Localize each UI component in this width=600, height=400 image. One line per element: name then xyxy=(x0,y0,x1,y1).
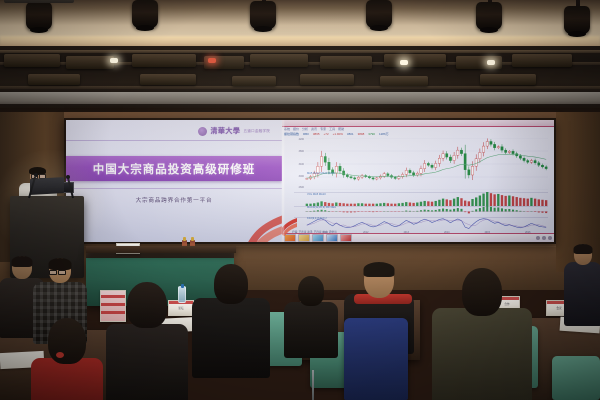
menu-item[interactable]: 工具 xyxy=(329,127,335,131)
audience-torso xyxy=(284,302,338,358)
ceiling-spotlight-icon xyxy=(366,0,392,28)
hair-tie-icon xyxy=(56,352,64,358)
chair-leg xyxy=(312,370,314,400)
quote-change: +72 xyxy=(324,132,329,136)
browser-icon[interactable] xyxy=(312,234,324,242)
clock-icon[interactable] xyxy=(548,236,552,240)
conference-hall-photo: 清華大學 五道口金融学院 中国大宗商品投资高级研修班 大宗商品跨界合作第一平台 xyxy=(0,0,600,400)
macd-legend: MACD(12,26,9) DIF DEA xyxy=(307,206,336,209)
truss-fixture xyxy=(250,54,308,67)
projector-blend-seam xyxy=(281,120,285,242)
volume-panel[interactable]: VOL MA5 MA10 xyxy=(294,192,548,206)
truss-fixture xyxy=(480,74,536,85)
truss-fixture xyxy=(384,54,446,67)
audience-member xyxy=(286,276,336,354)
audience-member xyxy=(34,318,100,400)
macd-panel[interactable]: MACD(12,26,9) DIF DEA xyxy=(294,206,548,217)
truss-downlight-icon xyxy=(487,60,495,65)
quote-low: 3790 xyxy=(368,132,375,136)
price-tick: 2600 xyxy=(299,186,304,189)
quote-change-pct: +1.90% xyxy=(333,132,343,136)
truss-indicator-icon xyxy=(208,58,216,63)
macd-histogram-chart xyxy=(305,206,548,217)
tsinghua-logo: 清華大學 五道口金融学院 xyxy=(198,126,270,136)
audience-hair xyxy=(12,256,33,267)
chair xyxy=(552,356,600,400)
truss-fixture xyxy=(380,76,428,86)
quote-last: 3865 xyxy=(313,132,320,136)
truss-fixture xyxy=(300,74,354,85)
kdj-oscillator-chart xyxy=(305,217,548,231)
red-ribbon-icon xyxy=(242,208,282,242)
glasses-icon xyxy=(49,270,65,273)
folder-icon[interactable] xyxy=(298,234,310,242)
ceiling-spotlight-icon xyxy=(564,6,590,34)
truss-fixture xyxy=(132,54,196,67)
menu-item[interactable]: 专家 xyxy=(320,127,326,131)
price-tick: 4200 xyxy=(299,138,304,141)
kdj-legend: KDJ(9,3,3) K D J xyxy=(307,217,326,220)
audience-member xyxy=(196,264,266,374)
network-icon[interactable] xyxy=(536,236,540,240)
truss-rail xyxy=(0,86,600,89)
projection-screen-frame: 清華大學 五道口金融学院 中国大宗商品投资高级研修班 大宗商品跨界合作第一平台 xyxy=(64,118,556,244)
kline-ma-legend: MA5 MA10 MA20 MA60 xyxy=(307,172,335,175)
truss-fixture xyxy=(512,54,572,67)
slide-divider-bottom xyxy=(66,188,282,189)
truss-fixture xyxy=(232,76,276,86)
ceiling-spotlight-icon xyxy=(26,2,52,30)
ceiling-spotlight-icon xyxy=(476,2,502,30)
quote-code: RB0 xyxy=(303,132,309,136)
slide-divider-top xyxy=(66,140,282,141)
truss-fixture xyxy=(66,56,114,69)
slide-subtitle: 大宗商品跨界合作第一平台 xyxy=(66,196,282,204)
trading-terminal-window[interactable]: 系统 报价 分析 资讯 专家 工具 帮助 螺纹钢指数 RB0 3865 +72 … xyxy=(282,120,554,242)
chart-icon[interactable] xyxy=(326,234,338,242)
audience-head xyxy=(214,264,248,304)
truss-fixture xyxy=(456,56,502,69)
quote-symbol: 螺纹钢指数 xyxy=(284,132,299,136)
price-tick: 3000 xyxy=(299,175,304,178)
tsinghua-seal-icon xyxy=(198,127,207,136)
volume-bar-chart xyxy=(305,192,548,206)
audience-member xyxy=(566,244,600,324)
price-axis: 4200 3800 3400 3000 2600 xyxy=(294,138,305,190)
truss-downlight-icon xyxy=(110,58,118,63)
slide-title: 中国大宗商品投资高级研修班 xyxy=(93,161,256,177)
audience-head xyxy=(127,282,167,328)
quote-volume: 1286万 xyxy=(379,132,389,136)
truss-downlight-icon xyxy=(400,60,408,65)
logo-en-text: 五道口金融学院 xyxy=(243,129,270,134)
audience-head xyxy=(48,318,86,364)
audience-hair xyxy=(364,262,395,277)
truss-rail xyxy=(0,50,600,53)
presentation-slide: 清華大學 五道口金融学院 中国大宗商品投资高级研修班 大宗商品跨界合作第一平台 xyxy=(66,120,282,242)
menu-item[interactable]: 分析 xyxy=(302,127,308,131)
price-tick: 3400 xyxy=(299,163,304,166)
menu-item[interactable]: 资讯 xyxy=(311,127,317,131)
audience-torso xyxy=(31,358,103,400)
truss-fixture xyxy=(320,56,372,69)
quote-high: 3898 xyxy=(358,132,365,136)
truss-fixture xyxy=(4,54,60,67)
kline-panel[interactable]: 4200 3800 3400 3000 2600 MA5 MA10 MA20 M… xyxy=(294,138,548,190)
audience-member xyxy=(436,268,528,400)
audience-torso xyxy=(192,298,270,378)
draped-coat xyxy=(344,318,408,400)
ceiling-spotlight-icon xyxy=(132,0,158,28)
menu-item[interactable]: 帮助 xyxy=(338,127,344,131)
media-icon[interactable] xyxy=(340,234,352,242)
slide-title-band: 中国大宗商品投资高级研修班 xyxy=(66,156,282,181)
audience-hair xyxy=(49,258,72,270)
menu-item[interactable]: 报价 xyxy=(293,127,299,131)
truss-fixture xyxy=(140,74,196,85)
microphone-icon xyxy=(34,173,38,177)
head-table-edge xyxy=(86,246,236,253)
audience-head xyxy=(298,276,324,306)
ceiling-spotlight-icon xyxy=(250,1,276,29)
audience-member xyxy=(110,282,184,400)
volume-legend: VOL MA5 MA10 xyxy=(307,193,326,196)
audience-hair xyxy=(574,244,593,254)
quote-open: 3801 xyxy=(347,132,354,136)
lectern-top xyxy=(4,0,74,3)
microphone-icon xyxy=(66,175,70,179)
audience-head xyxy=(462,268,502,316)
logo-cn-text: 清華大學 xyxy=(210,126,240,136)
terminal-quote-line: 螺纹钢指数 RB0 3865 +72 +1.90% 3801 3898 3790… xyxy=(284,131,552,136)
truss-fixture xyxy=(28,74,80,85)
kline-candlestick-chart xyxy=(305,138,548,190)
os-taskbar[interactable] xyxy=(282,233,554,242)
projection-screen: 清華大學 五道口金融学院 中国大宗商品投资高级研修班 大宗商品跨界合作第一平台 xyxy=(66,120,554,242)
audience-torso xyxy=(106,324,188,400)
audience-torso xyxy=(564,262,600,326)
volume-icon[interactable] xyxy=(542,236,546,240)
system-tray[interactable] xyxy=(536,236,552,240)
audience-torso xyxy=(432,308,532,400)
price-tick: 3800 xyxy=(299,150,304,153)
